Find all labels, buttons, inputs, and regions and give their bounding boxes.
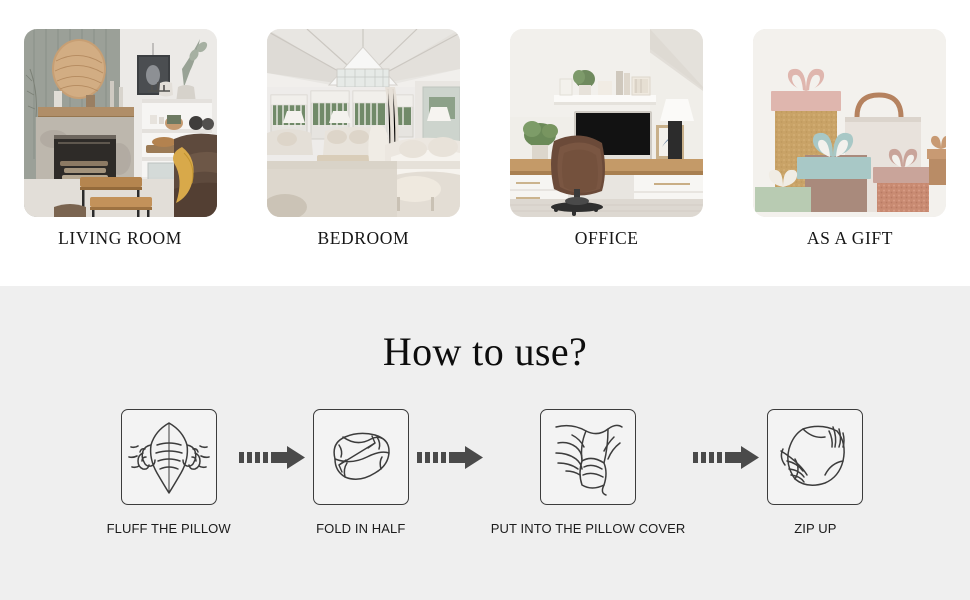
step-fluff-the-pillow[interactable]: FLUFF THE PILLOW (107, 409, 231, 536)
how-to-use-section: How to use? (0, 286, 970, 600)
step-label: PUT INTO THE PILLOW COVER (491, 521, 686, 536)
usecase-gallery: LIVING ROOM (0, 0, 970, 286)
dashed-arrow-right-icon (685, 409, 767, 505)
product-detail-page: LIVING ROOM (0, 0, 970, 600)
step-label: ZIP UP (794, 521, 836, 536)
usecase-item-living-room[interactable]: LIVING ROOM (22, 0, 218, 286)
dashed-arrow-right-icon (231, 409, 313, 505)
usecase-item-bedroom[interactable]: BEDROOM (265, 0, 461, 286)
steps-row: FLUFF THE PILLOW (0, 409, 970, 536)
usecase-item-office[interactable]: OFFICE (509, 0, 705, 286)
fluff-pillow-icon (121, 409, 217, 505)
usecase-label: OFFICE (575, 228, 639, 249)
usecase-label: AS A GIFT (807, 228, 893, 249)
insert-pillow-icon (540, 409, 636, 505)
how-to-use-title: How to use? (0, 286, 970, 375)
zip-up-icon (767, 409, 863, 505)
bedroom-photo (267, 29, 460, 217)
step-label: FOLD IN HALF (316, 521, 405, 536)
usecase-item-as-a-gift[interactable]: AS A GIFT (752, 0, 948, 286)
fold-pillow-icon (313, 409, 409, 505)
step-zip-up[interactable]: ZIP UP (767, 409, 863, 536)
usecase-label: BEDROOM (317, 228, 409, 249)
living-room-photo (24, 29, 217, 217)
gift-boxes-illustration (753, 29, 946, 217)
office-photo (510, 29, 703, 217)
step-put-into-the-pillow-cover[interactable]: PUT INTO THE PILLOW COVER (491, 409, 686, 536)
step-label: FLUFF THE PILLOW (107, 521, 231, 536)
dashed-arrow-right-icon (409, 409, 491, 505)
step-fold-in-half[interactable]: FOLD IN HALF (313, 409, 409, 536)
usecase-label: LIVING ROOM (58, 228, 182, 249)
